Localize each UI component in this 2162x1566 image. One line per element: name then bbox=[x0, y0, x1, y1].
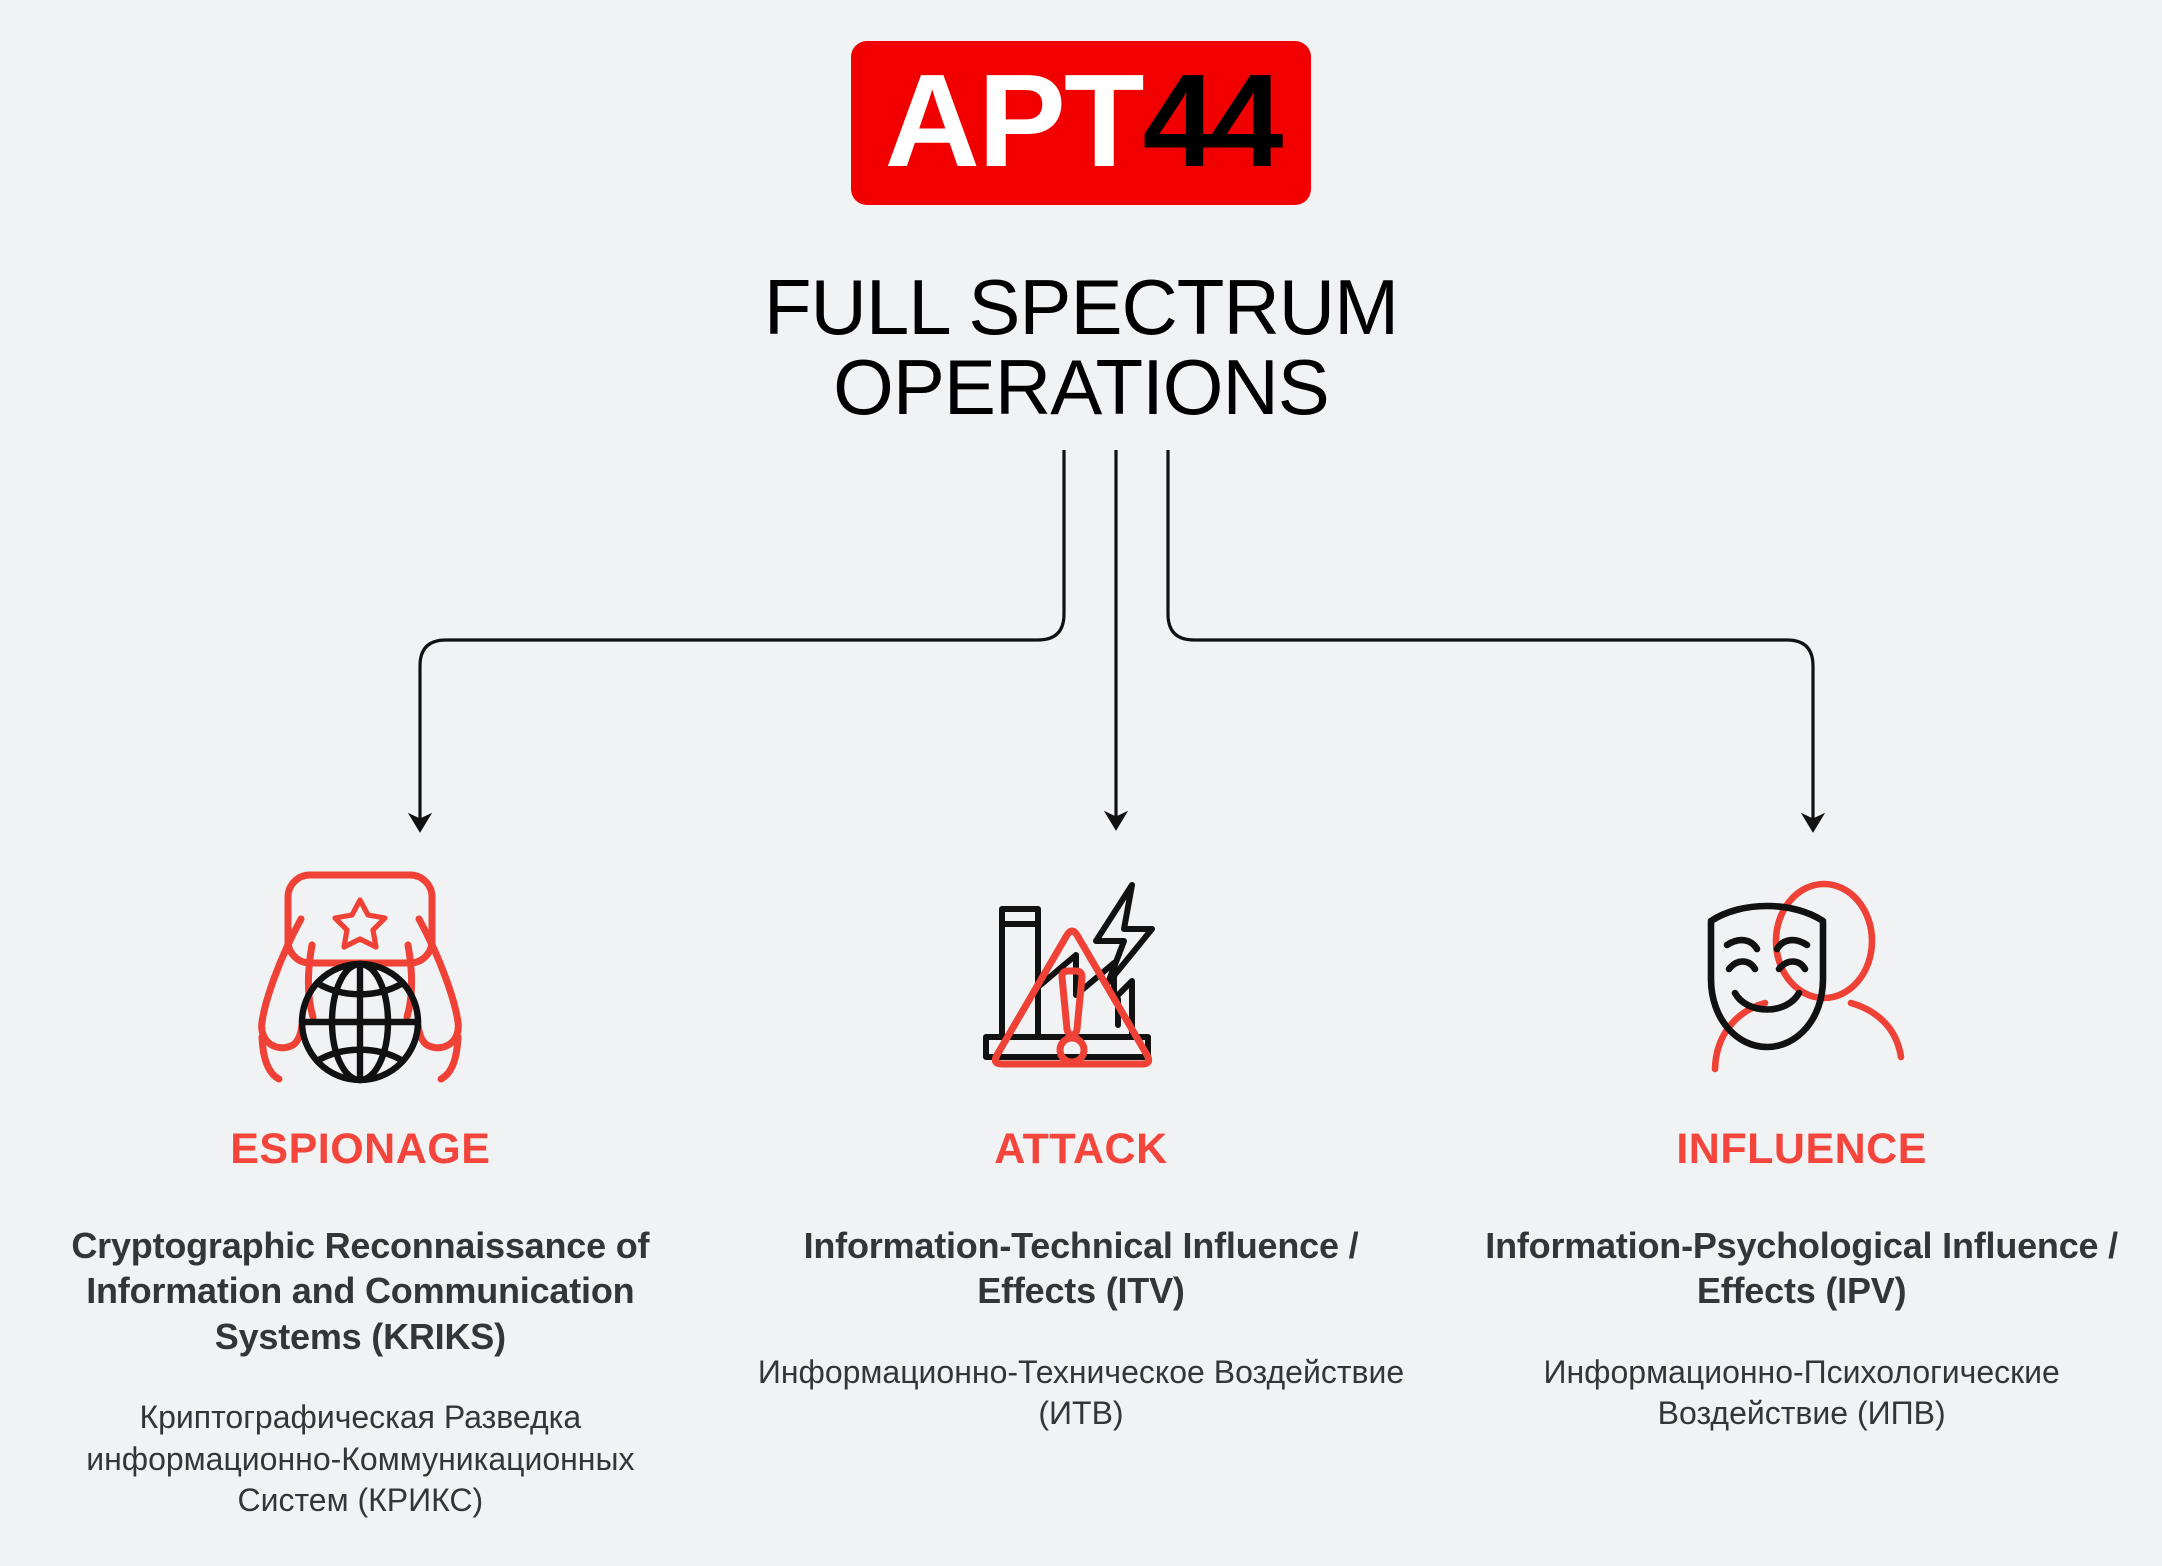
branch-russian-attack: Информационно-Техническое Воздействие (И… bbox=[751, 1352, 1411, 1435]
ushanka-hat-globe-icon bbox=[245, 862, 475, 1102]
factory-warning-lightning-icon bbox=[966, 862, 1196, 1102]
headline-line-1: FULL SPECTRUM bbox=[0, 268, 2162, 348]
logo-number: 44 bbox=[1143, 47, 1278, 194]
headline-line-2: OPERATIONS bbox=[0, 348, 2162, 428]
page-title: FULL SPECTRUM OPERATIONS bbox=[0, 268, 2162, 427]
branch-title-attack: ATTACK bbox=[994, 1128, 1167, 1171]
branch-title-espionage: ESPIONAGE bbox=[230, 1128, 490, 1171]
apt44-logo: APT44 bbox=[0, 41, 2162, 205]
diagram-canvas: APT44 FULL SPECTRUM OPERATIONS bbox=[0, 0, 2162, 1566]
branch-russian-espionage: Криптографическая Разведка информационно… bbox=[40, 1397, 680, 1522]
connector-right bbox=[1168, 450, 1813, 822]
branch-influence: INFLUENCE Information-Psychological Infl… bbox=[1441, 862, 2162, 1435]
branch-english-espionage: Cryptographic Reconnaissance of Informat… bbox=[40, 1223, 680, 1359]
theater-mask-person-icon bbox=[1687, 862, 1917, 1102]
connector-left bbox=[420, 450, 1064, 822]
branch-title-influence: INFLUENCE bbox=[1676, 1128, 1927, 1171]
logo-prefix: APT bbox=[885, 47, 1143, 194]
branch-attack: ATTACK Information-Technical Influence /… bbox=[721, 862, 1442, 1435]
branch-russian-influence: Информационно-Психологические Воздействи… bbox=[1462, 1352, 2142, 1435]
branch-columns: ESPIONAGE Cryptographic Reconnaissance o… bbox=[0, 862, 2162, 1522]
branch-english-attack: Information-Technical Influence / Effect… bbox=[751, 1223, 1411, 1314]
branch-english-influence: Information-Psychological Influence / Ef… bbox=[1482, 1223, 2122, 1314]
branch-espionage: ESPIONAGE Cryptographic Reconnaissance o… bbox=[0, 862, 721, 1522]
logo-badge: APT44 bbox=[851, 41, 1312, 205]
